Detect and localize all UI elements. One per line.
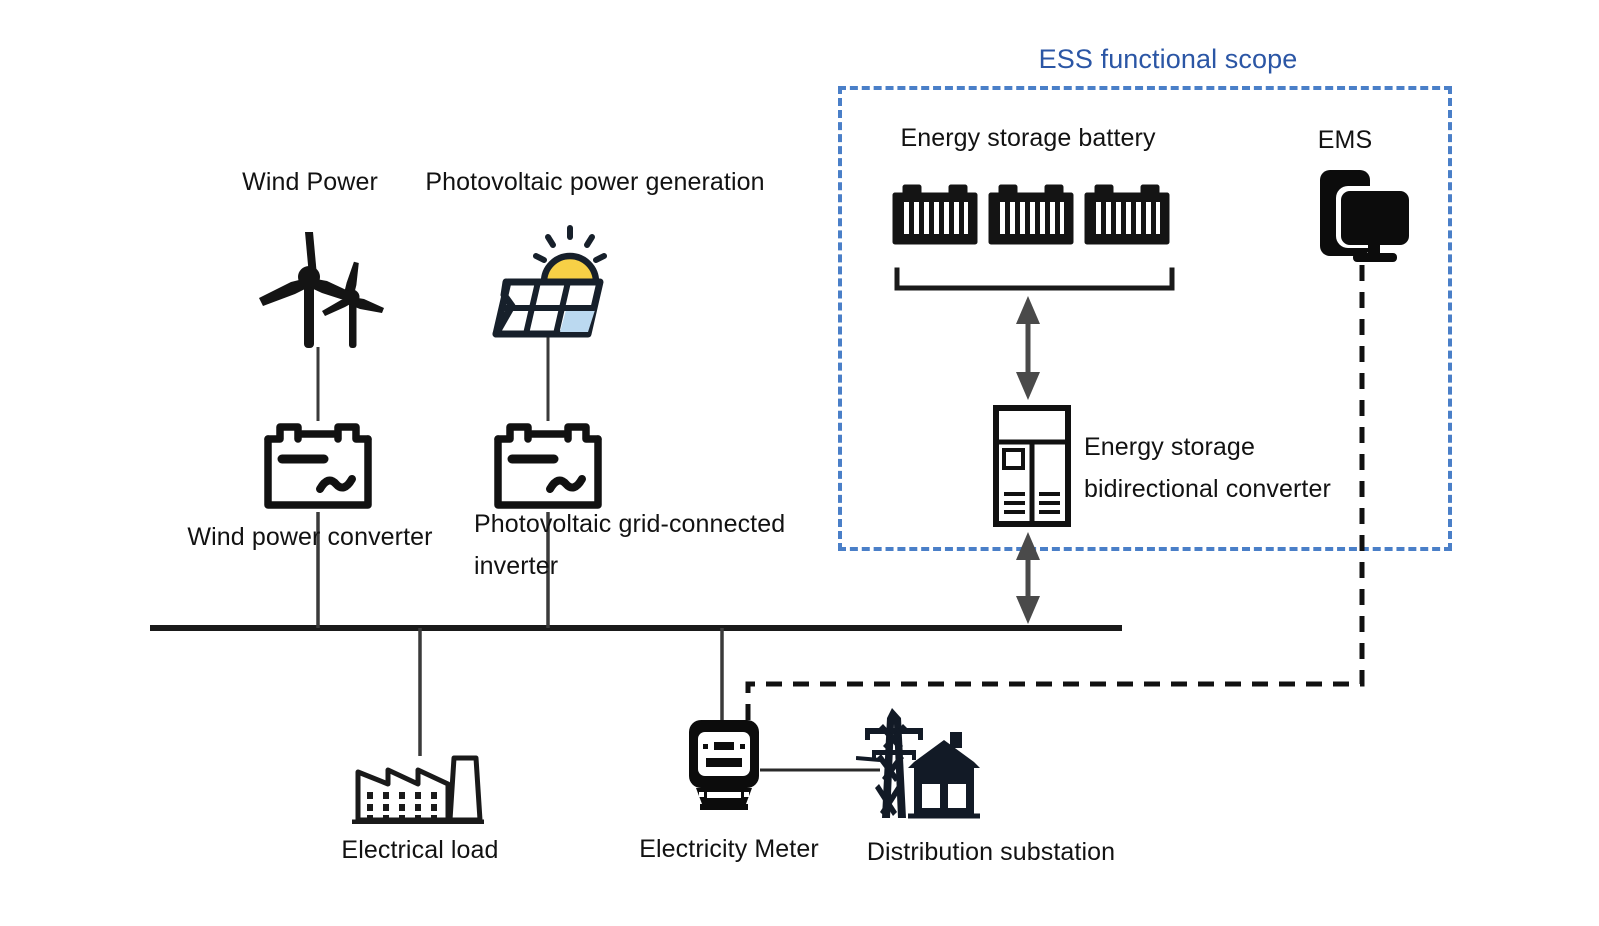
energy-storage-battery-label: Energy storage battery: [900, 122, 1155, 154]
electricity-meter-label: Electricity Meter: [639, 833, 819, 865]
wind-turbine-icon: [248, 226, 388, 348]
factory-icon: [350, 752, 486, 824]
electrical-load-label: Electrical load: [341, 834, 498, 866]
pv-inverter-label-line1: Photovoltaic grid-connected: [474, 508, 785, 540]
ess-scope-title: ESS functional scope: [1039, 42, 1298, 77]
pv-inverter-label-line2: inverter: [474, 550, 558, 582]
distribution-substation-label: Distribution substation: [867, 836, 1115, 868]
substation-icon: [856, 702, 984, 820]
photovoltaic-power-generation-label: Photovoltaic power generation: [425, 166, 764, 198]
wind-power-converter-label: Wind power converter: [187, 521, 432, 553]
ess-converter-label-line1: Energy storage: [1084, 431, 1255, 463]
ess-converter-label-line2: bidirectional converter: [1084, 473, 1331, 505]
diagram-canvas: ESS functional scope Wind Power Photovol…: [0, 0, 1599, 926]
storage-cabinet-icon: [992, 404, 1072, 528]
ems-label: EMS: [1318, 124, 1372, 156]
battery-icon: [890, 180, 980, 248]
power-converter-icon: [262, 421, 374, 511]
server-monitor-icon: [1308, 168, 1412, 266]
battery-icon: [986, 180, 1076, 248]
solar-panel-icon: [478, 220, 618, 338]
wind-power-label: Wind Power: [242, 166, 378, 198]
power-converter-icon: [492, 421, 604, 511]
battery-icon: [1082, 180, 1172, 248]
meter-icon: [686, 718, 762, 812]
